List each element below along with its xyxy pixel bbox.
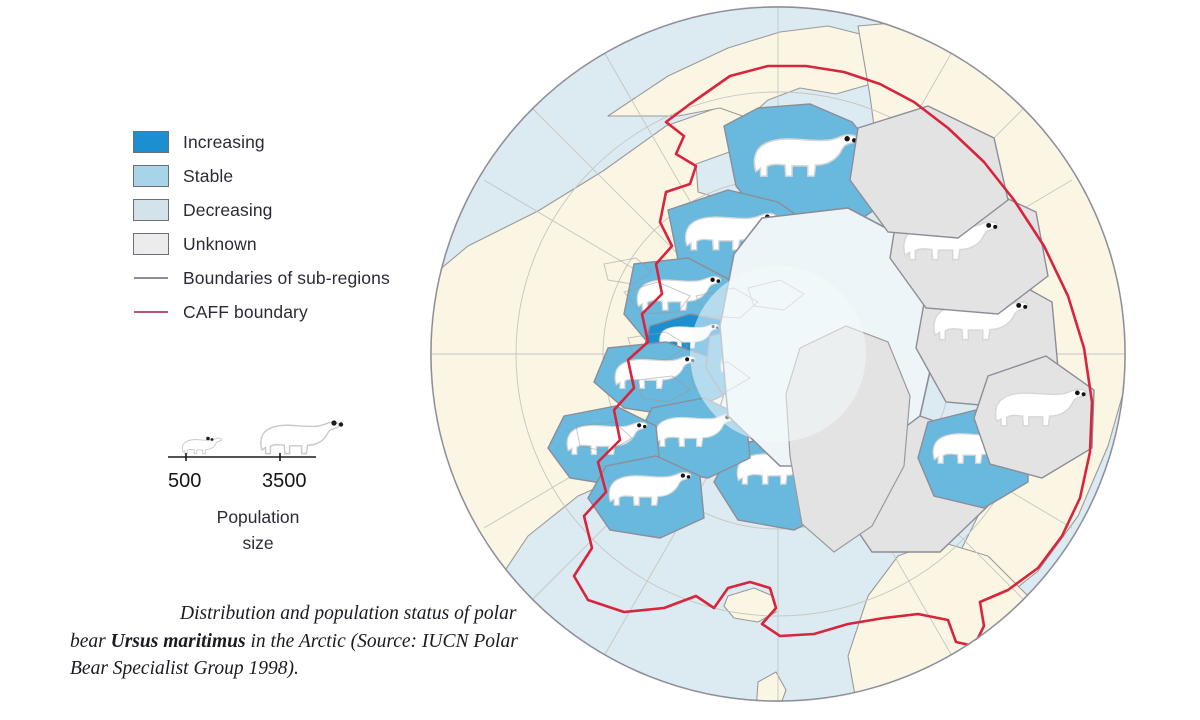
legend-item-increasing[interactable]: Increasing (133, 125, 433, 159)
legend: Increasing Stable Decreasing Unknown Bou… (133, 125, 433, 329)
scale-tick-label-3500: 3500 (262, 470, 307, 493)
legend-label-stable: Stable (183, 166, 233, 187)
legend-item-unknown[interactable]: Unknown (133, 227, 433, 261)
population-size-scale: 500 3500 Population size (160, 398, 390, 557)
large-bear-eye (331, 420, 336, 425)
large-polar-bear-silhouette (261, 422, 339, 453)
scale-tick-labels: 500 3500 (160, 470, 390, 496)
large-bear-nose (339, 422, 343, 426)
scale-caption: Population size (173, 504, 343, 557)
legend-swatch-unknown (133, 233, 169, 255)
legend-item-caff-boundary[interactable]: CAFF boundary (133, 295, 433, 329)
arctic-map[interactable] (428, 0, 1140, 712)
small-polar-bear-silhouette (182, 438, 221, 454)
legend-label-unknown: Unknown (183, 234, 257, 255)
scale-tick-label-500: 500 (168, 470, 201, 493)
scale-caption-line-1: Population (173, 504, 343, 530)
legend-swatch-increasing (133, 131, 169, 153)
legend-label-caff-boundary: CAFF boundary (183, 302, 308, 323)
legend-item-subregion-boundary[interactable]: Boundaries of sub-regions (133, 261, 433, 295)
legend-swatch-stable (133, 165, 169, 187)
legend-item-stable[interactable]: Stable (133, 159, 433, 193)
legend-label-subregion-boundary: Boundaries of sub-regions (183, 268, 390, 289)
caption-species-name: Ursus maritimus (111, 631, 246, 652)
legend-line-subregion-boundary (133, 267, 169, 289)
arctic-map-svg[interactable] (428, 0, 1140, 712)
legend-label-increasing: Increasing (183, 132, 265, 153)
legend-swatch-decreasing (133, 199, 169, 221)
scale-caption-line-2: size (173, 530, 343, 556)
legend-label-decreasing: Decreasing (183, 200, 273, 221)
pole-centre-tint (690, 266, 866, 442)
scale-graphic (160, 398, 390, 470)
small-bear-eye (206, 437, 210, 441)
globe-contents (428, 6, 1140, 712)
small-bear-nose (211, 438, 214, 441)
legend-item-decreasing[interactable]: Decreasing (133, 193, 433, 227)
legend-line-caff-boundary (133, 301, 169, 323)
